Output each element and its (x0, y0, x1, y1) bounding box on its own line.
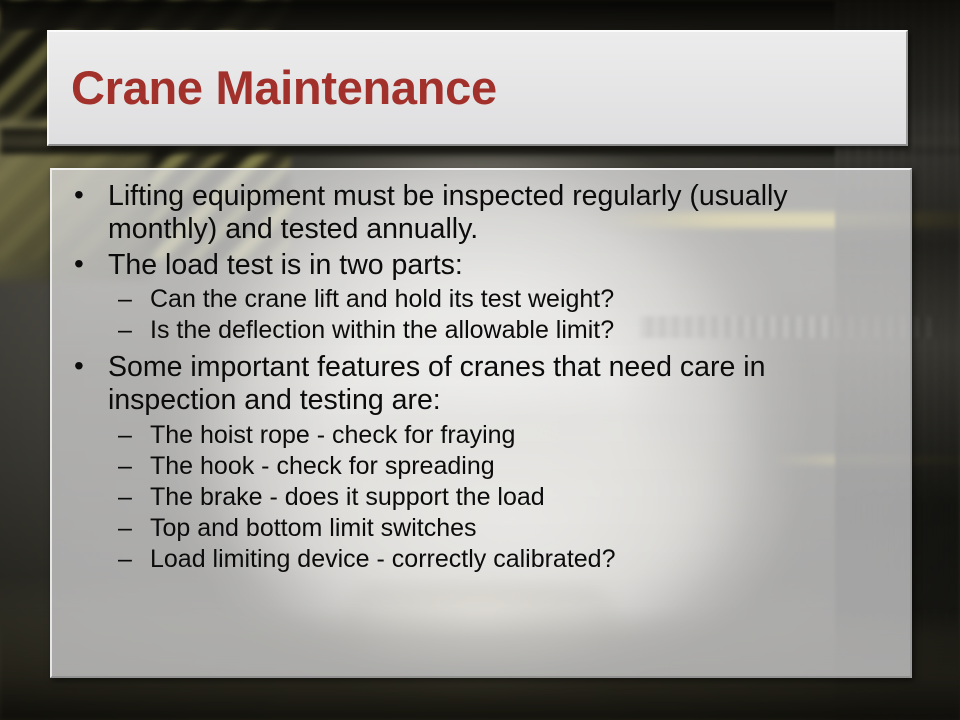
list-item-text: Lifting equipment must be inspected regu… (108, 180, 788, 245)
list-item: – The brake - does it support the load (60, 482, 896, 513)
dash-icon: – (118, 513, 132, 544)
list-item: – The hoist rope - check for fraying (60, 420, 896, 451)
list-item-text: The hook - check for spreading (150, 452, 495, 480)
dash-icon: – (118, 544, 132, 575)
list-item: – Is the deflection within the allowable… (60, 315, 896, 346)
list-item-text: Some important features of cranes that n… (108, 351, 765, 416)
content-placeholder[interactable]: • Lifting equipment must be inspected re… (50, 168, 912, 678)
list-item-text: Can the crane lift and hold its test wei… (150, 285, 614, 313)
dash-icon: – (118, 315, 132, 346)
bullet-list: • Lifting equipment must be inspected re… (60, 180, 896, 575)
sub-bullet-list: – Can the crane lift and hold its test w… (60, 284, 896, 346)
list-item-text: The brake - does it support the load (150, 483, 545, 511)
dash-icon: – (118, 451, 132, 482)
list-item: – Can the crane lift and hold its test w… (60, 284, 896, 315)
list-item-text: The load test is in two parts: (108, 249, 463, 281)
presentation-slide: Crane Maintenance • Lifting equipment mu… (0, 0, 960, 720)
list-item-text: The hoist rope - check for fraying (150, 421, 515, 449)
bullet-dot-icon: • (74, 179, 84, 212)
bullet-dot-icon: • (74, 248, 84, 281)
list-item: – Top and bottom limit switches (60, 513, 896, 544)
sub-bullet-list: – The hoist rope - check for fraying – T… (60, 420, 896, 575)
list-item-text: Load limiting device - correctly calibra… (150, 545, 616, 573)
dash-icon: – (118, 420, 132, 451)
list-item-text: Is the deflection within the allowable l… (150, 316, 614, 344)
list-item: • The load test is in two parts: (60, 249, 896, 282)
title-placeholder[interactable]: Crane Maintenance (47, 30, 908, 146)
list-item-text: Top and bottom limit switches (150, 514, 477, 542)
bullet-dot-icon: • (74, 350, 84, 383)
list-item: • Some important features of cranes that… (60, 351, 896, 418)
dash-icon: – (118, 482, 132, 513)
list-item: • Lifting equipment must be inspected re… (60, 180, 896, 247)
list-item: – Load limiting device - correctly calib… (60, 544, 896, 575)
dash-icon: – (118, 284, 132, 315)
page-title: Crane Maintenance (49, 63, 497, 112)
list-item: – The hook - check for spreading (60, 451, 896, 482)
